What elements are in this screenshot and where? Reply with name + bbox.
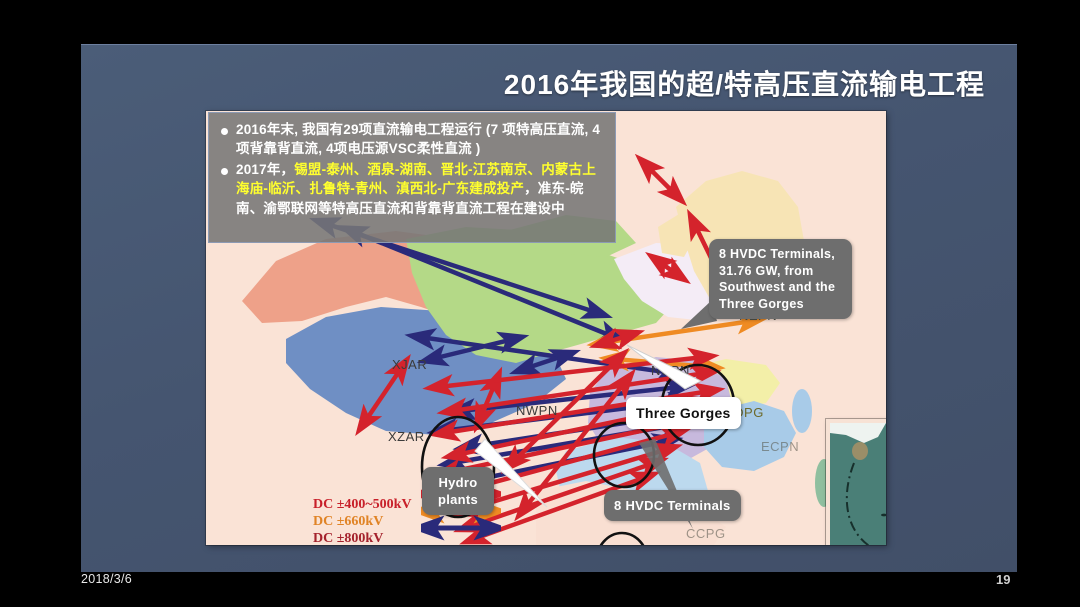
- footer-date: 2018/3/6: [81, 572, 132, 586]
- callout-hvdc-southwest[interactable]: 8 HVDC Terminals, 31.76 GW, from Southwe…: [709, 239, 852, 319]
- callout-leader-lines: [81, 45, 1017, 573]
- footer-page-number: 19: [996, 572, 1010, 587]
- callout-hvdc-terminals[interactable]: 8 HVDC Terminals: [604, 490, 741, 521]
- callout-hydro-plants[interactable]: Hydro plants: [422, 467, 494, 515]
- callout-three-gorges[interactable]: Three Gorges: [626, 397, 741, 429]
- slide-canvas: 2016年我国的超/特高压直流输电工程: [81, 44, 1017, 572]
- screenshot-root: 2016年我国的超/特高压直流输电工程: [0, 0, 1080, 607]
